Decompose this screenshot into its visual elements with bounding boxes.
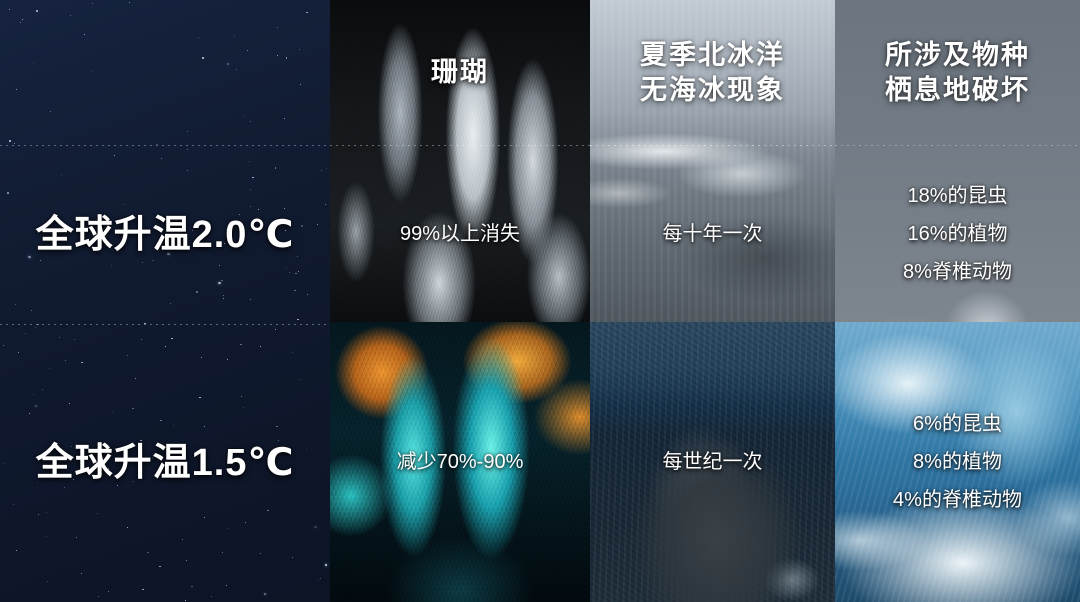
cell-text-coral-15c-line-1: 减少70%-90% [397,443,524,481]
cell-species-2c: 所涉及物种 栖息地破坏 18%的昆虫 16%的植物 8%脊椎动物 [835,0,1080,322]
cell-text-species-15c-line-2: 8%的植物 [913,443,1002,481]
cell-text-species-15c-line-3: 4%的脊椎动物 [893,481,1022,519]
column-header-species: 所涉及物种 栖息地破坏 [835,0,1080,145]
cell-text-arctic-15c: 每世纪一次 [590,322,835,602]
cell-text-species-2c-line-3: 8%脊椎动物 [903,253,1012,291]
cell-coral-15c: 减少70%-90% [330,322,590,602]
cell-arctic-2c: 夏季北冰洋 无海冰现象 每十年一次 [590,0,835,322]
cell-text-species-15c: 6%的昆虫 8%的植物 4%的脊椎动物 [835,322,1080,602]
column-header-coral: 珊瑚 [330,0,590,145]
infographic-root: 全球升温2.0℃ 全球升温1.5℃ 珊瑚 99%以上消失 减少70%-90% 夏… [0,0,1080,602]
row-label-2c-text: 全球升温2.0℃ [36,216,295,254]
column-header-arctic-line-2: 无海冰现象 [640,73,785,108]
row-label-15c-text: 全球升温1.5℃ [36,444,295,482]
cell-text-species-2c-line-2: 16%的植物 [907,215,1007,253]
cell-species-15c: 6%的昆虫 8%的植物 4%的脊椎动物 [835,322,1080,602]
row-label-sidebar: 全球升温2.0℃ 全球升温1.5℃ [0,0,330,602]
column-header-arctic-line-1: 夏季北冰洋 [640,38,785,73]
cell-text-species-2c: 18%的昆虫 16%的植物 8%脊椎动物 [835,145,1080,322]
cell-text-arctic-2c-line-1: 每十年一次 [663,215,763,253]
cell-text-coral-15c: 减少70%-90% [330,322,590,602]
cell-coral-2c: 珊瑚 99%以上消失 [330,0,590,322]
cell-text-coral-2c: 99%以上消失 [330,145,590,322]
cell-text-species-15c-line-1: 6%的昆虫 [913,405,1002,443]
column-header-arctic: 夏季北冰洋 无海冰现象 [590,0,835,145]
cell-text-coral-2c-line-1: 99%以上消失 [400,215,520,253]
cell-text-arctic-15c-line-1: 每世纪一次 [663,443,763,481]
row-label-2c: 全球升温2.0℃ [0,145,330,324]
column-header-species-line-2: 栖息地破坏 [885,73,1030,108]
column-header-species-line-1: 所涉及物种 [885,38,1030,73]
cell-arctic-15c: 每世纪一次 [590,322,835,602]
cell-text-arctic-2c: 每十年一次 [590,145,835,322]
column-header-coral-line-1: 珊瑚 [431,55,489,90]
row-label-15c: 全球升温1.5℃ [0,324,330,602]
cell-text-species-2c-line-1: 18%的昆虫 [907,177,1007,215]
